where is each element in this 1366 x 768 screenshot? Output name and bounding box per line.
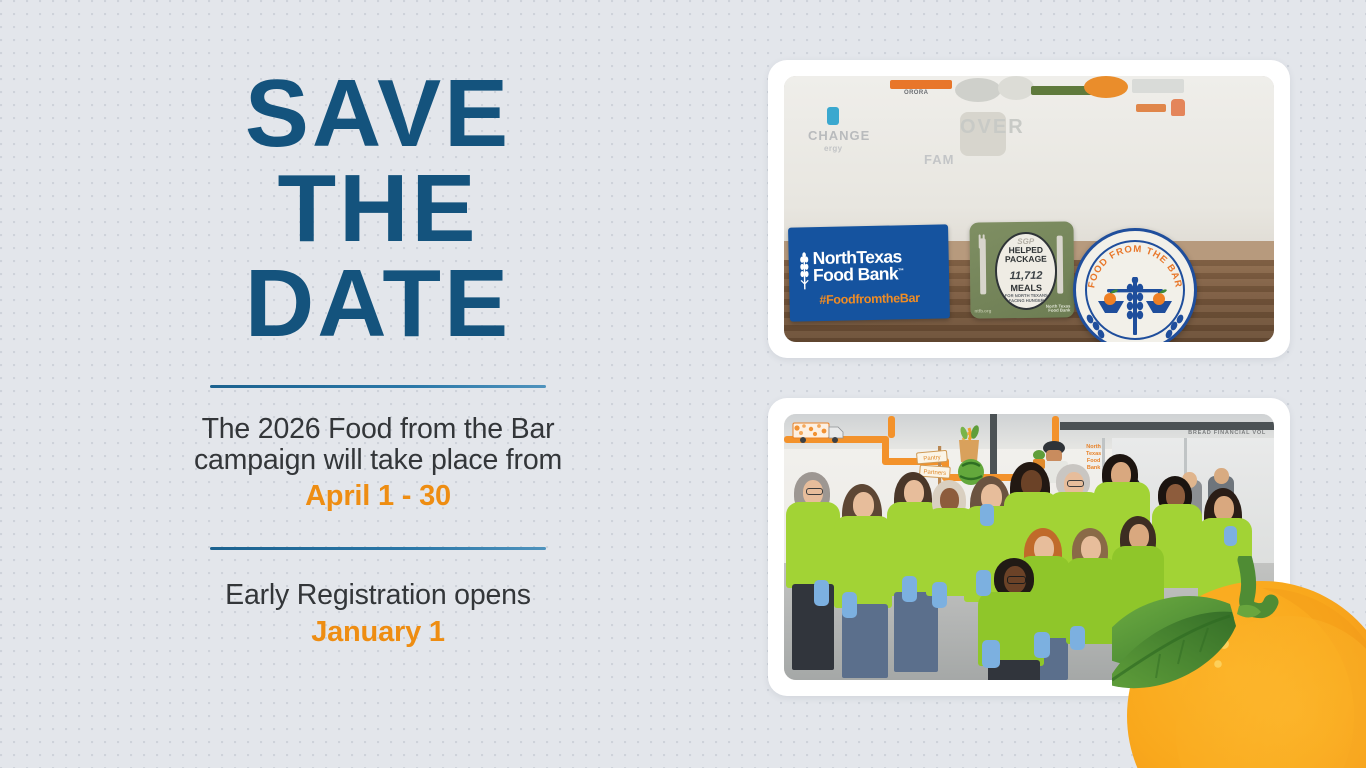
- knife-icon: [1057, 236, 1064, 294]
- north-texas-food-bank-sign: NorthTexas Food Bank™ #FoodfromtheBar: [788, 224, 950, 321]
- registration-date: January 1: [168, 616, 588, 649]
- banner-logo-fam: FAM: [924, 152, 954, 167]
- photo-card-bottom: Large group of volunteers in lime green …: [768, 398, 1290, 696]
- tray-sub-2: FACING HUNGER: [1009, 298, 1044, 303]
- fork-tine-2: [983, 234, 985, 248]
- foodbank-trademark: ™: [898, 269, 904, 275]
- banner-logo-hand: [1171, 99, 1185, 116]
- mural-truck-icon: [791, 421, 849, 445]
- photo-top: Group of volunteers in navy Food from th…: [784, 76, 1274, 342]
- bread-financial-room-sign: BREAD FINANCIAL VOL: [1188, 430, 1266, 436]
- headline-line-2: THE: [245, 161, 511, 256]
- mural-wall-logo: North Texas Food Bank: [1086, 444, 1101, 472]
- campaign-info-block: The 2026 Food from the Bar campaign will…: [168, 414, 588, 513]
- seal-wheat-left-icon: [1082, 313, 1108, 342]
- photo-bottom: Large group of volunteers in lime green …: [784, 414, 1274, 680]
- bystander-3-head: [1214, 468, 1229, 484]
- page-title: SAVE THE DATE: [245, 66, 511, 351]
- mural-logo-4: Bank: [1087, 465, 1100, 471]
- headline-line-3: DATE: [245, 256, 511, 351]
- tray-package: PACKAGE: [1005, 254, 1047, 264]
- tray-ntfb-2: Food Bank: [1048, 308, 1070, 313]
- banner-logo-change: CHANGE: [808, 128, 870, 143]
- ceiling-beam: [1060, 422, 1274, 430]
- tray-plate: SGP HELPED PACKAGE 11,712 MEALS FOR NORT…: [995, 232, 1058, 311]
- divider-top: [210, 385, 546, 388]
- slide-canvas: SAVE THE DATE The 2026 Food from the Bar…: [0, 0, 1366, 768]
- foodbank-name-line-2: Food Bank: [813, 264, 898, 286]
- tray-url: ntfb.org: [974, 308, 991, 313]
- campaign-line-2: campaign will take place from: [168, 445, 588, 475]
- banner-logo-follow: [890, 80, 952, 89]
- tray-helped-package: HELPED PACKAGE: [997, 246, 1055, 264]
- banner-logo-over: OVER: [960, 116, 1025, 139]
- registration-info-block: Early Registration opens January 1: [168, 580, 588, 648]
- tray-meal-count: 11,712: [997, 270, 1055, 283]
- campaign-line-1: The 2026 Food from the Bar: [168, 414, 588, 444]
- registration-line-1: Early Registration opens: [168, 580, 588, 610]
- mural-logo-3: Food: [1087, 458, 1100, 464]
- mural-logo-2: Texas: [1086, 451, 1101, 457]
- foodbank-sign-name: NorthTexas Food Bank™: [813, 248, 904, 284]
- banner-logo-circle-orange: [1084, 76, 1128, 98]
- seal-wheat-right-icon: [1162, 313, 1188, 342]
- meals-tray-sign: SGP HELPED PACKAGE 11,712 MEALS FOR NORT…: [970, 221, 1075, 318]
- campaign-dates: April 1 - 30: [168, 480, 588, 513]
- tray-meals-label: MEALS: [997, 283, 1055, 294]
- banner-logo-right: [1132, 79, 1184, 93]
- mural-logo-1: North: [1086, 444, 1101, 450]
- banner-logo-change-mark: [827, 107, 839, 125]
- divider-bottom: [210, 547, 546, 550]
- food-from-the-bar-seal: FOOD FROM THE BAR: [1073, 228, 1197, 342]
- fork-tine-1: [979, 234, 981, 248]
- banner-logo-plate: [955, 78, 1001, 102]
- banner-logo-orora: ORORA: [904, 90, 928, 96]
- left-text-column: SAVE THE DATE The 2026 Food from the Bar…: [0, 0, 756, 768]
- headline-line-1: SAVE: [245, 66, 511, 161]
- tray-subtext: FOR NORTH TEXANS FACING HUNGER: [997, 293, 1055, 304]
- foodbank-hashtag: #FoodfromtheBar: [789, 290, 949, 307]
- mural-stripe-6: [888, 416, 895, 438]
- banner-logo-ergy: ergy: [824, 144, 843, 153]
- banner-logo-about: [1136, 104, 1166, 112]
- wheat-icon: [800, 251, 810, 291]
- banner-logo-anniversary-mark: [998, 76, 1034, 100]
- photo-card-top: Group of volunteers in navy Food from th…: [768, 60, 1290, 358]
- tray-foodbank-logo: North Texas Food Bank: [1046, 304, 1071, 314]
